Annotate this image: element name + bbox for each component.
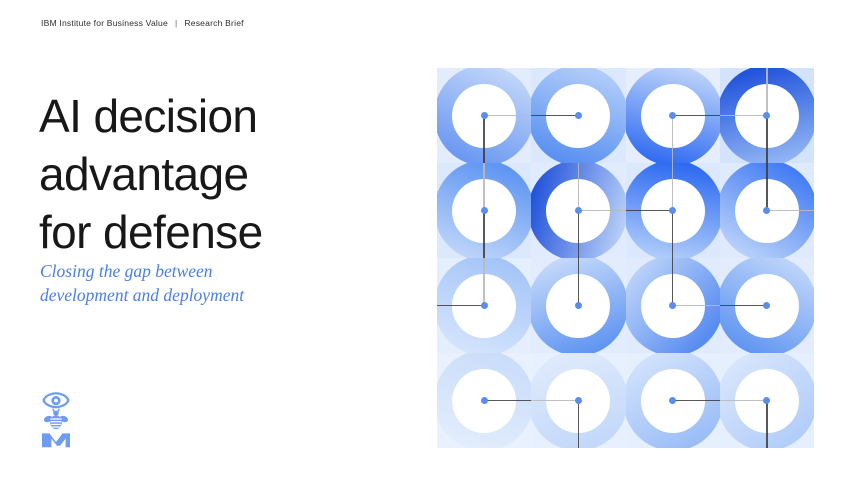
dial-hand-up bbox=[672, 258, 673, 306]
dial-hand-right bbox=[673, 115, 720, 116]
dial-hand-up-faint bbox=[483, 163, 484, 211]
dial-hand-up-faint bbox=[672, 163, 673, 211]
dial-hand-down bbox=[672, 211, 673, 259]
subtitle-line-1: Closing the gap between bbox=[40, 260, 370, 284]
dial-center-dot bbox=[575, 112, 582, 119]
dial-center-dot bbox=[481, 302, 488, 309]
title-line-3: for defense bbox=[39, 203, 399, 261]
publisher-label: IBM Institute for Business Value bbox=[41, 18, 168, 28]
dial-center-dot bbox=[481, 112, 488, 119]
cell-r0c0 bbox=[437, 68, 531, 163]
cell-r2c2 bbox=[626, 258, 720, 353]
cell-r1c2 bbox=[626, 163, 720, 258]
dial-hand-left bbox=[437, 305, 484, 306]
dial-hand-down bbox=[483, 116, 484, 164]
breadcrumb-separator: | bbox=[168, 18, 184, 28]
subtitle-line-2: development and deployment bbox=[40, 284, 370, 308]
dial-hand-up-faint bbox=[578, 163, 579, 211]
cell-r0c1 bbox=[531, 68, 625, 163]
dial-hand-left bbox=[720, 305, 767, 306]
dial-center-dot bbox=[575, 397, 582, 404]
cell-r1c0 bbox=[437, 163, 531, 258]
dial-hand-right-faint bbox=[578, 210, 625, 211]
dial-hand-down-faint bbox=[672, 116, 673, 164]
dial-hand-down bbox=[766, 401, 767, 449]
dial-hand-up-faint bbox=[483, 258, 484, 306]
page-subtitle: Closing the gap between development and … bbox=[40, 260, 370, 307]
dial-center-dot bbox=[481, 207, 488, 214]
cell-r2c1 bbox=[531, 258, 625, 353]
page-title: AI decision advantage for defense bbox=[39, 87, 399, 261]
dial-grid bbox=[437, 68, 814, 448]
cell-r0c3 bbox=[720, 68, 814, 163]
dial-hand-down bbox=[578, 401, 579, 449]
dial-hand-right-faint bbox=[484, 115, 531, 116]
cell-r2c3 bbox=[720, 258, 814, 353]
dial-center-dot bbox=[575, 207, 582, 214]
dial-hand-down bbox=[766, 116, 767, 164]
cell-r3c2 bbox=[626, 353, 720, 448]
cell-r1c3 bbox=[720, 163, 814, 258]
cell-r3c3 bbox=[720, 353, 814, 448]
dial-hand-left-faint bbox=[531, 400, 578, 401]
dial-hand-right-faint bbox=[673, 305, 720, 306]
cover-graphic bbox=[437, 68, 814, 448]
dial-hand-left-faint bbox=[720, 400, 767, 401]
cell-r1c1 bbox=[531, 163, 625, 258]
dial-hand-up bbox=[578, 258, 579, 306]
dial-hand-down bbox=[578, 211, 579, 259]
title-line-2: advantage bbox=[39, 145, 399, 203]
dial-hand-right bbox=[673, 400, 720, 401]
dial-hand-right bbox=[484, 400, 531, 401]
dial-center-dot bbox=[575, 302, 582, 309]
dial-hand-up-faint bbox=[766, 68, 767, 116]
dial-center-dot bbox=[481, 397, 488, 404]
cell-r3c0 bbox=[437, 353, 531, 448]
dial-hand-left bbox=[531, 115, 578, 116]
dial-hand-up bbox=[766, 163, 767, 211]
cell-r3c1 bbox=[531, 353, 625, 448]
cell-r0c2 bbox=[626, 68, 720, 163]
dial-hand-left-faint bbox=[720, 115, 767, 116]
dial-hand-left bbox=[626, 210, 673, 211]
title-line-1: AI decision bbox=[39, 87, 399, 145]
left-text-column: IBM Institute for Business Value|Researc… bbox=[0, 0, 420, 486]
cell-r2c0 bbox=[437, 258, 531, 353]
dial-hand-down bbox=[483, 211, 484, 259]
cover-page: IBM Institute for Business Value|Researc… bbox=[0, 0, 864, 486]
breadcrumb: IBM Institute for Business Value|Researc… bbox=[41, 18, 244, 28]
dial-hand-right-faint bbox=[767, 210, 814, 211]
series-label: Research Brief bbox=[184, 18, 243, 28]
ibm-eye-bee-m-logo bbox=[39, 390, 73, 450]
